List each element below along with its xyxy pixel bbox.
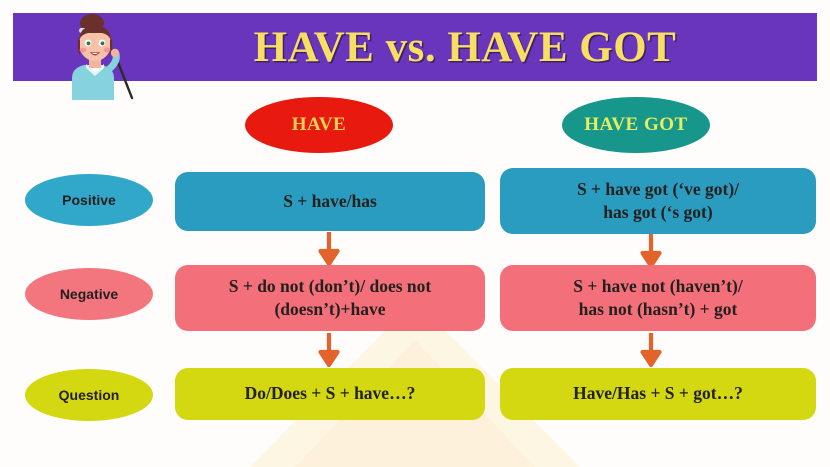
cell-have-negative: S + do not (don’t)/ does not (doesn’t)+h… [175, 265, 485, 331]
arrow-down-icon-left-2 [318, 333, 340, 367]
arrow-down-icon-right-1 [640, 234, 662, 268]
infographic-canvas: HAVE vs. HAVE GOT HAVE HAVE GOT Positive… [0, 0, 830, 467]
cell-have-got-negative-line2: has not (hasn’t) + got [579, 299, 738, 319]
cell-have-negative-line1: S + do not (don’t)/ does not [229, 276, 432, 296]
arrow-down-icon-left-1 [318, 232, 340, 266]
row-label-negative: Negative [25, 268, 153, 320]
cell-have-question: Do/Does + S + have…? [175, 368, 485, 420]
column-header-have: HAVE [245, 97, 393, 153]
cell-have-got-positive-line1: S + have got (‘ve got)/ [577, 179, 739, 199]
cell-have-got-negative: S + have not (haven’t)/ has not (hasn’t)… [500, 265, 816, 331]
arrow-down-icon-right-2 [640, 333, 662, 367]
row-label-positive: Positive [25, 174, 153, 226]
row-label-question: Question [25, 369, 153, 421]
page-title: HAVE vs. HAVE GOT [120, 13, 810, 81]
cell-have-got-positive-line2: has got (‘s got) [603, 202, 712, 222]
column-header-have-got: HAVE GOT [562, 97, 710, 153]
cell-have-negative-line2: (doesn’t)+have [274, 299, 385, 319]
cell-have-got-positive: S + have got (‘ve got)/ has got (‘s got) [500, 168, 816, 234]
cell-have-positive: S + have/has [175, 172, 485, 231]
cell-have-got-question: Have/Has + S + got…? [500, 368, 816, 420]
cell-have-got-negative-line1: S + have not (haven’t)/ [573, 276, 742, 296]
